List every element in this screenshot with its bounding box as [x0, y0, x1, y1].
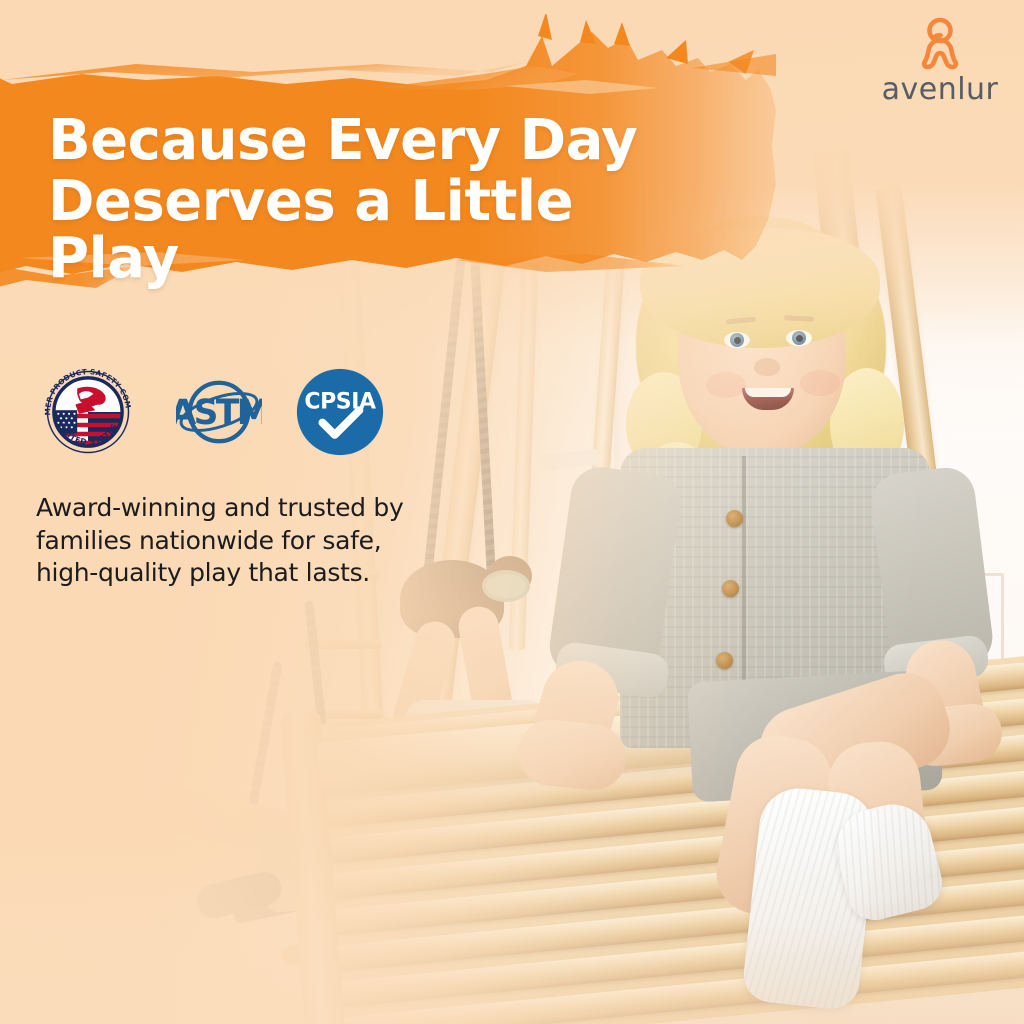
boy-nose — [754, 358, 780, 376]
brand-logo[interactable]: avenlur — [874, 16, 1006, 107]
subcopy: Award-winning and trusted by families na… — [36, 492, 456, 590]
shirt-button — [716, 652, 733, 669]
cpsc-seal-icon: CONSUMER PRODUCT SAFETY COMMISSION UNITE… — [34, 358, 142, 466]
advertisement-canvas: Because Every Day Deserves a Little Play… — [0, 0, 1024, 1024]
badge-cpsc[interactable]: CONSUMER PRODUCT SAFETY COMMISSION UNITE… — [34, 358, 142, 466]
hair-scrunchie — [482, 570, 530, 602]
astm-logo-icon: ASTM — [176, 372, 262, 452]
badge-cpsia[interactable]: CPSIA — [296, 368, 384, 456]
boy-cheek — [800, 370, 840, 396]
boy-teeth — [745, 388, 791, 397]
rug-dot — [120, 918, 172, 936]
shirt-button — [722, 580, 739, 597]
certification-badges: CONSUMER PRODUCT SAFETY COMMISSION UNITE… — [34, 358, 384, 466]
boy-pupil — [796, 335, 803, 342]
subcopy-line-3: high-quality play that lasts. — [36, 557, 456, 590]
brand-wordmark: avenlur — [874, 72, 1006, 107]
subcopy-line-1: Award-winning and trusted by — [36, 492, 456, 525]
avenlur-figure-mark-icon — [874, 16, 1006, 70]
cpsia-check-badge-icon: CPSIA — [296, 368, 384, 456]
badge-astm[interactable]: ASTM — [176, 372, 262, 452]
headline-line-2: Deserves a Little Play — [48, 173, 688, 287]
boy-pupil — [734, 337, 741, 344]
headline-line-1: Because Every Day — [48, 112, 688, 169]
boy-cheek — [706, 372, 746, 398]
headline: Because Every Day Deserves a Little Play — [48, 112, 688, 287]
svg-text:CPSIA: CPSIA — [304, 389, 376, 414]
shirt-button — [726, 510, 743, 527]
boy-eye — [786, 330, 812, 346]
boy-eye — [724, 332, 750, 348]
subcopy-line-2: families nationwide for safe, — [36, 525, 456, 558]
